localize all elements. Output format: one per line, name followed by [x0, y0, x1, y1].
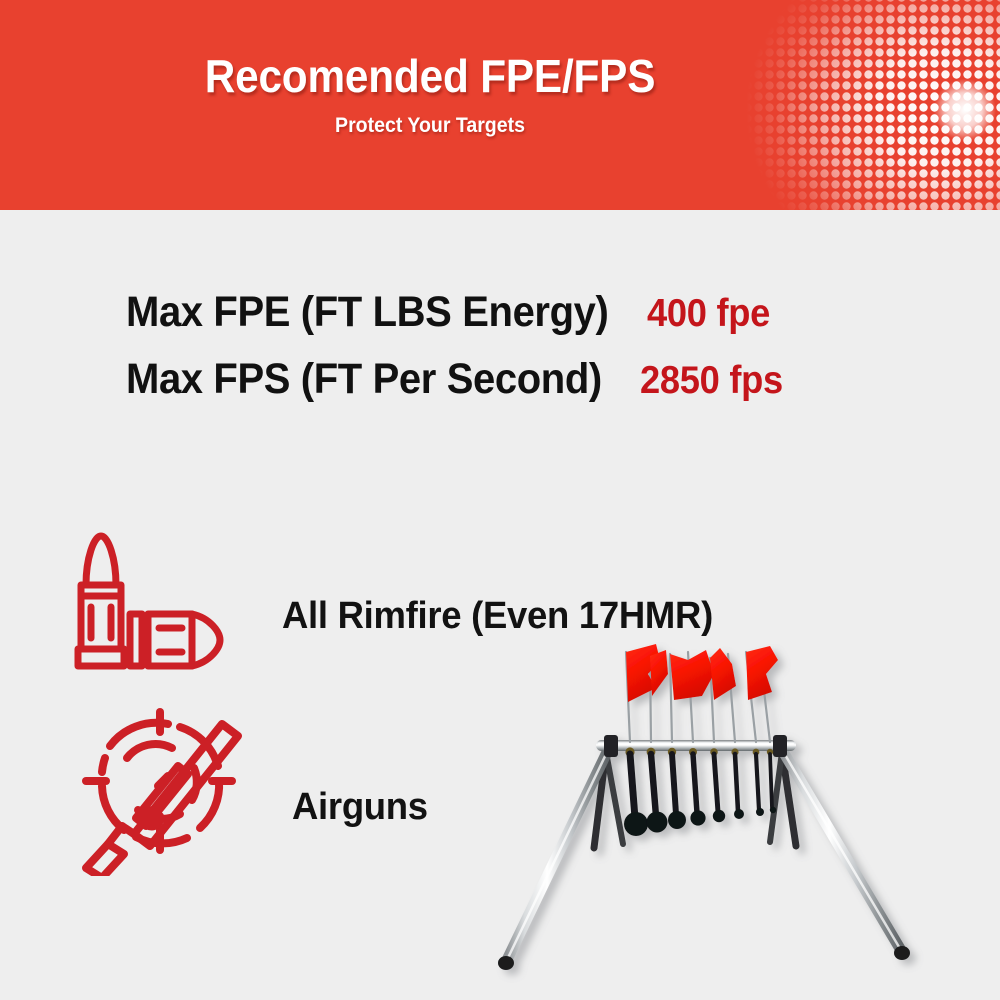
bullet-cartridges-icon	[64, 518, 224, 686]
spec-value-fps: 2850 fps	[640, 359, 783, 403]
header-banner: Recomended FPE/FPS Protect Your Targets	[0, 0, 1000, 210]
flag	[670, 650, 714, 700]
spec-value-fpe: 400 fpe	[647, 292, 770, 336]
product-photo-target-stand	[470, 630, 1000, 1000]
flag	[650, 650, 668, 696]
paddle-target	[753, 749, 764, 816]
paddle-target	[689, 748, 706, 826]
stand-leg-left	[498, 748, 609, 970]
infographic-page: Recomended FPE/FPS Protect Your Targets …	[0, 0, 1000, 1000]
spec-list: Max FPE (FT LBS Energy) 400 fpe Max FPS …	[126, 288, 946, 422]
paddle-target	[731, 748, 744, 819]
feature-label-airguns: Airguns	[292, 786, 428, 829]
crossbar	[596, 740, 796, 751]
paddle-target	[647, 748, 668, 833]
feature-airguns: Airguns	[72, 706, 433, 876]
spec-label-fpe: Max FPE (FT LBS Energy)	[126, 288, 608, 337]
clamp-left	[604, 735, 618, 757]
paddle-target	[668, 748, 686, 829]
flag	[746, 646, 778, 700]
paddle-targets	[624, 747, 776, 836]
spec-row-fpe: Max FPE (FT LBS Energy) 400 fpe	[126, 288, 946, 337]
stand-leg-right	[781, 748, 910, 960]
clamp-right	[773, 735, 787, 757]
page-title: Recomended FPE/FPS	[34, 52, 825, 100]
page-subtitle: Protect Your Targets	[30, 114, 830, 138]
paddle-target	[710, 748, 725, 822]
banner-text-block: Recomended FPE/FPS Protect Your Targets	[0, 52, 860, 138]
spec-row-fps: Max FPS (FT Per Second) 2850 fps	[126, 355, 946, 404]
paddle-target	[624, 747, 648, 836]
target-flags	[626, 644, 778, 702]
rifle-scope-crosshair-icon	[72, 706, 252, 876]
spec-label-fps: Max FPS (FT Per Second)	[126, 355, 602, 404]
